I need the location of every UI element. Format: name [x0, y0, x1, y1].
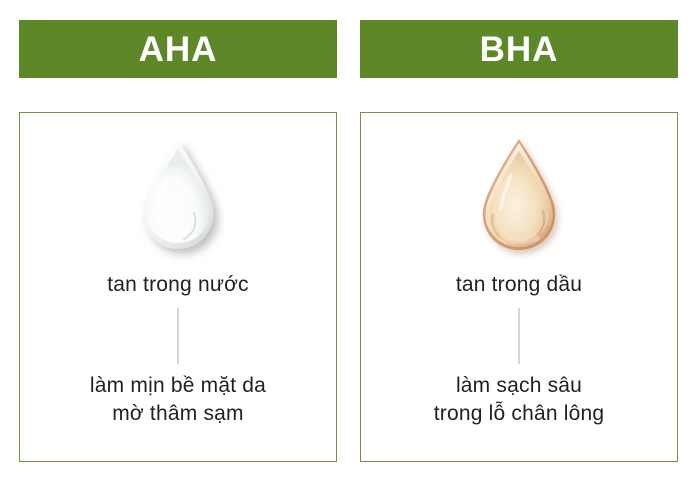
header-bar-bha: BHA: [360, 20, 678, 78]
comparison-column-aha: AHA: [19, 0, 337, 485]
header-label-aha: AHA: [139, 32, 218, 67]
oil-droplet-icon: [469, 131, 569, 266]
water-droplet-icon: [128, 131, 228, 266]
primary-text-bha: tan trong dầu: [456, 272, 582, 298]
header-bar-aha: AHA: [19, 20, 337, 78]
secondary-text-aha: làm mịn bề mặt da mờ thâm sạm: [76, 372, 280, 427]
primary-text-aha: tan trong nước: [107, 272, 249, 298]
secondary-text-bha-line-1: làm sạch sâu: [434, 372, 605, 400]
divider-bha: [518, 308, 520, 364]
secondary-text-bha: làm sạch sâu trong lỗ chân lông: [420, 372, 619, 427]
comparison-column-bha: BHA: [360, 0, 678, 485]
header-label-bha: BHA: [480, 32, 559, 67]
secondary-text-aha-line-2: mờ thâm sạm: [90, 400, 266, 428]
divider-aha: [177, 308, 179, 364]
secondary-text-aha-line-1: làm mịn bề mặt da: [90, 372, 266, 400]
content-panel-bha: tan trong dầu làm sạch sâu trong lỗ chân…: [360, 112, 678, 462]
aha-bha-comparison-infographic: AHA: [0, 0, 700, 485]
secondary-text-bha-line-2: trong lỗ chân lông: [434, 400, 605, 428]
content-panel-aha: tan trong nước làm mịn bề mặt da mờ thâm…: [19, 112, 337, 462]
